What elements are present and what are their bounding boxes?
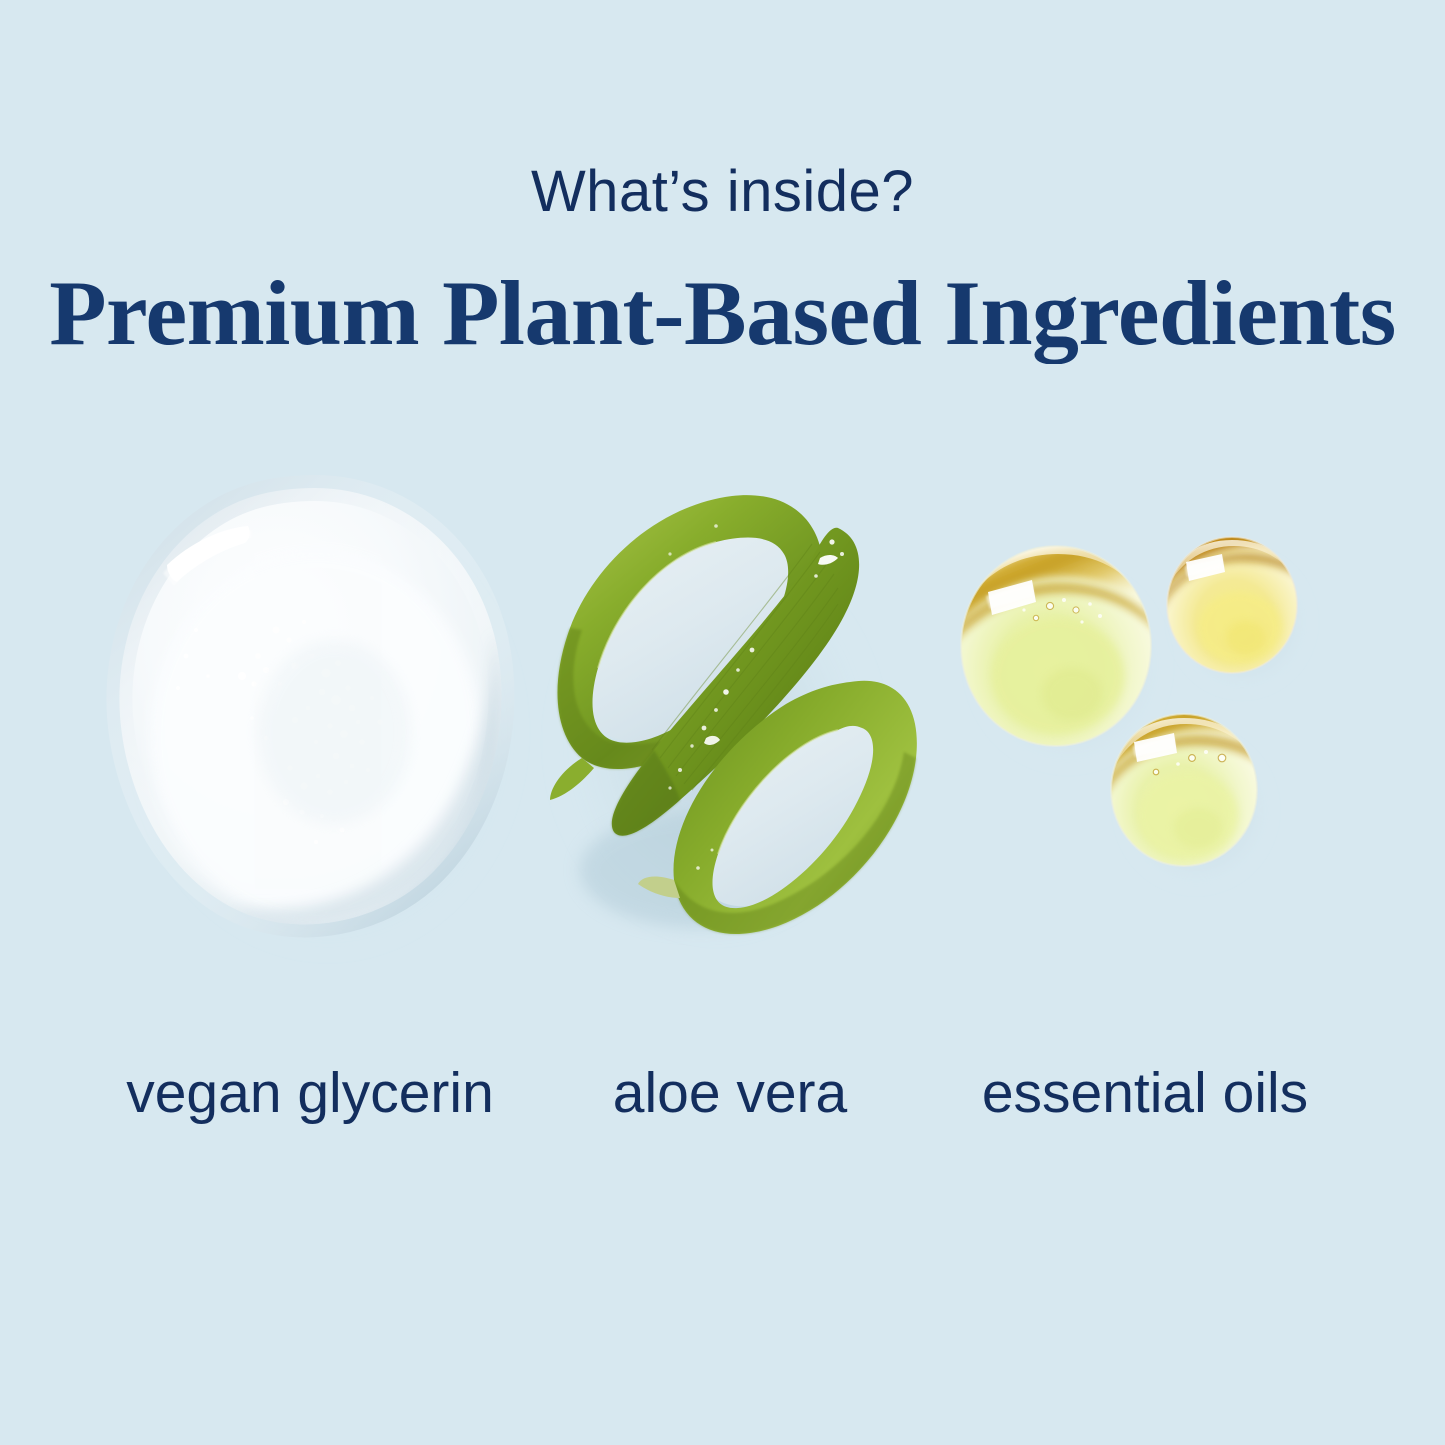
caption-vegan-glycerin: vegan glycerin [85,1062,535,1125]
page-title: Premium Plant-Based Ingredients [0,264,1445,363]
ingredient-visual-aloe-vera [520,470,940,950]
ingredient-captions-row: vegan glycerin aloe vera essential oils [0,1062,1445,1142]
caption-aloe-vera: aloe vera [520,1062,940,1125]
ingredient-visual-essential-oils [940,470,1350,950]
ingredient-visual-vegan-glycerin [90,470,540,950]
infographic-canvas: What’s inside? Premium Plant-Based Ingre… [0,0,1445,1445]
caption-essential-oils: essential oils [935,1062,1355,1125]
ingredient-visuals-row [0,470,1445,950]
eyebrow-text: What’s inside? [0,163,1445,221]
glycerin-inner-swirl [258,640,410,824]
